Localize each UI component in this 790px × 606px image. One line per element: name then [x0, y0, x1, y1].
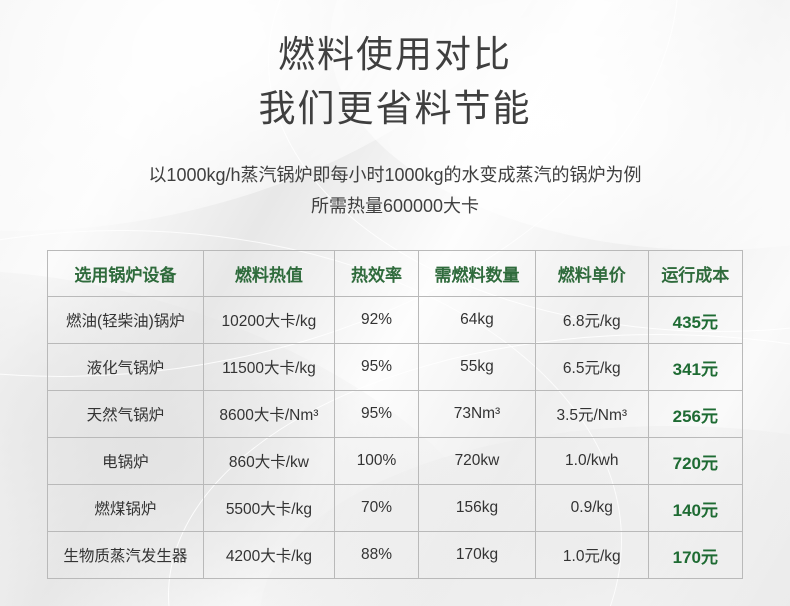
cell-cost: 170元 — [648, 532, 742, 579]
cell-device: 液化气锅炉 — [48, 344, 204, 391]
description-line-2: 所需热量600000大卡 — [0, 191, 790, 222]
description-line-1: 以1000kg/h蒸汽锅炉即每小时1000kg的水变成蒸汽的锅炉为例 — [0, 160, 790, 191]
table-header-efficiency: 热效率 — [335, 251, 419, 297]
cell-heat-value: 5500大卡/kg — [203, 485, 334, 532]
cell-device: 电锅炉 — [48, 438, 204, 485]
table-header-fuel-qty: 需燃料数量 — [419, 251, 536, 297]
table-row: 燃煤锅炉 5500大卡/kg 70% 156kg 0.9/kg 140元 — [48, 485, 743, 532]
table-header-row: 选用锅炉设备 燃料热值 热效率 需燃料数量 燃料单价 运行成本 — [48, 251, 743, 297]
cell-efficiency: 95% — [335, 391, 419, 438]
cell-fuel-qty: 55kg — [419, 344, 536, 391]
cell-heat-value: 10200大卡/kg — [203, 297, 334, 344]
description-block: 以1000kg/h蒸汽锅炉即每小时1000kg的水变成蒸汽的锅炉为例 所需热量6… — [0, 160, 790, 222]
cell-heat-value: 8600大卡/Nm³ — [203, 391, 334, 438]
cell-unit-price: 6.8元/kg — [535, 297, 648, 344]
cell-efficiency: 100% — [335, 438, 419, 485]
page-title: 燃料使用对比 我们更省料节能 — [0, 0, 790, 134]
cell-efficiency: 70% — [335, 485, 419, 532]
cell-cost: 256元 — [648, 391, 742, 438]
cell-unit-price: 1.0/kwh — [535, 438, 648, 485]
cell-unit-price: 3.5元/Nm³ — [535, 391, 648, 438]
cell-device: 生物质蒸汽发生器 — [48, 532, 204, 579]
cell-fuel-qty: 170kg — [419, 532, 536, 579]
cell-device: 燃油(轻柴油)锅炉 — [48, 297, 204, 344]
title-line-2: 我们更省料节能 — [0, 80, 790, 134]
cell-heat-value: 4200大卡/kg — [203, 532, 334, 579]
cell-cost: 720元 — [648, 438, 742, 485]
cell-efficiency: 88% — [335, 532, 419, 579]
cell-device: 天然气锅炉 — [48, 391, 204, 438]
cell-efficiency: 95% — [335, 344, 419, 391]
table-row: 生物质蒸汽发生器 4200大卡/kg 88% 170kg 1.0元/kg 170… — [48, 532, 743, 579]
cell-unit-price: 6.5元/kg — [535, 344, 648, 391]
table-row: 电锅炉 860大卡/kw 100% 720kw 1.0/kwh 720元 — [48, 438, 743, 485]
table-header-device: 选用锅炉设备 — [48, 251, 204, 297]
fuel-comparison-table: 选用锅炉设备 燃料热值 热效率 需燃料数量 燃料单价 运行成本 燃油(轻柴油)锅… — [47, 250, 743, 579]
cell-device: 燃煤锅炉 — [48, 485, 204, 532]
table-header-unit-price: 燃料单价 — [535, 251, 648, 297]
cell-heat-value: 11500大卡/kg — [203, 344, 334, 391]
cell-unit-price: 1.0元/kg — [535, 532, 648, 579]
cell-unit-price: 0.9/kg — [535, 485, 648, 532]
comparison-table-wrapper: 选用锅炉设备 燃料热值 热效率 需燃料数量 燃料单价 运行成本 燃油(轻柴油)锅… — [47, 250, 743, 579]
table-row: 液化气锅炉 11500大卡/kg 95% 55kg 6.5元/kg 341元 — [48, 344, 743, 391]
page-root: 燃料使用对比 我们更省料节能 以1000kg/h蒸汽锅炉即每小时1000kg的水… — [0, 0, 790, 606]
table-header-heat-value: 燃料热值 — [203, 251, 334, 297]
title-line-1: 燃料使用对比 — [0, 30, 790, 80]
table-row: 燃油(轻柴油)锅炉 10200大卡/kg 92% 64kg 6.8元/kg 43… — [48, 297, 743, 344]
cell-fuel-qty: 64kg — [419, 297, 536, 344]
cell-fuel-qty: 156kg — [419, 485, 536, 532]
cell-efficiency: 92% — [335, 297, 419, 344]
cell-cost: 341元 — [648, 344, 742, 391]
cell-fuel-qty: 720kw — [419, 438, 536, 485]
cell-heat-value: 860大卡/kw — [203, 438, 334, 485]
cell-cost: 435元 — [648, 297, 742, 344]
table-row: 天然气锅炉 8600大卡/Nm³ 95% 73Nm³ 3.5元/Nm³ 256元 — [48, 391, 743, 438]
cell-cost: 140元 — [648, 485, 742, 532]
cell-fuel-qty: 73Nm³ — [419, 391, 536, 438]
table-header-cost: 运行成本 — [648, 251, 742, 297]
